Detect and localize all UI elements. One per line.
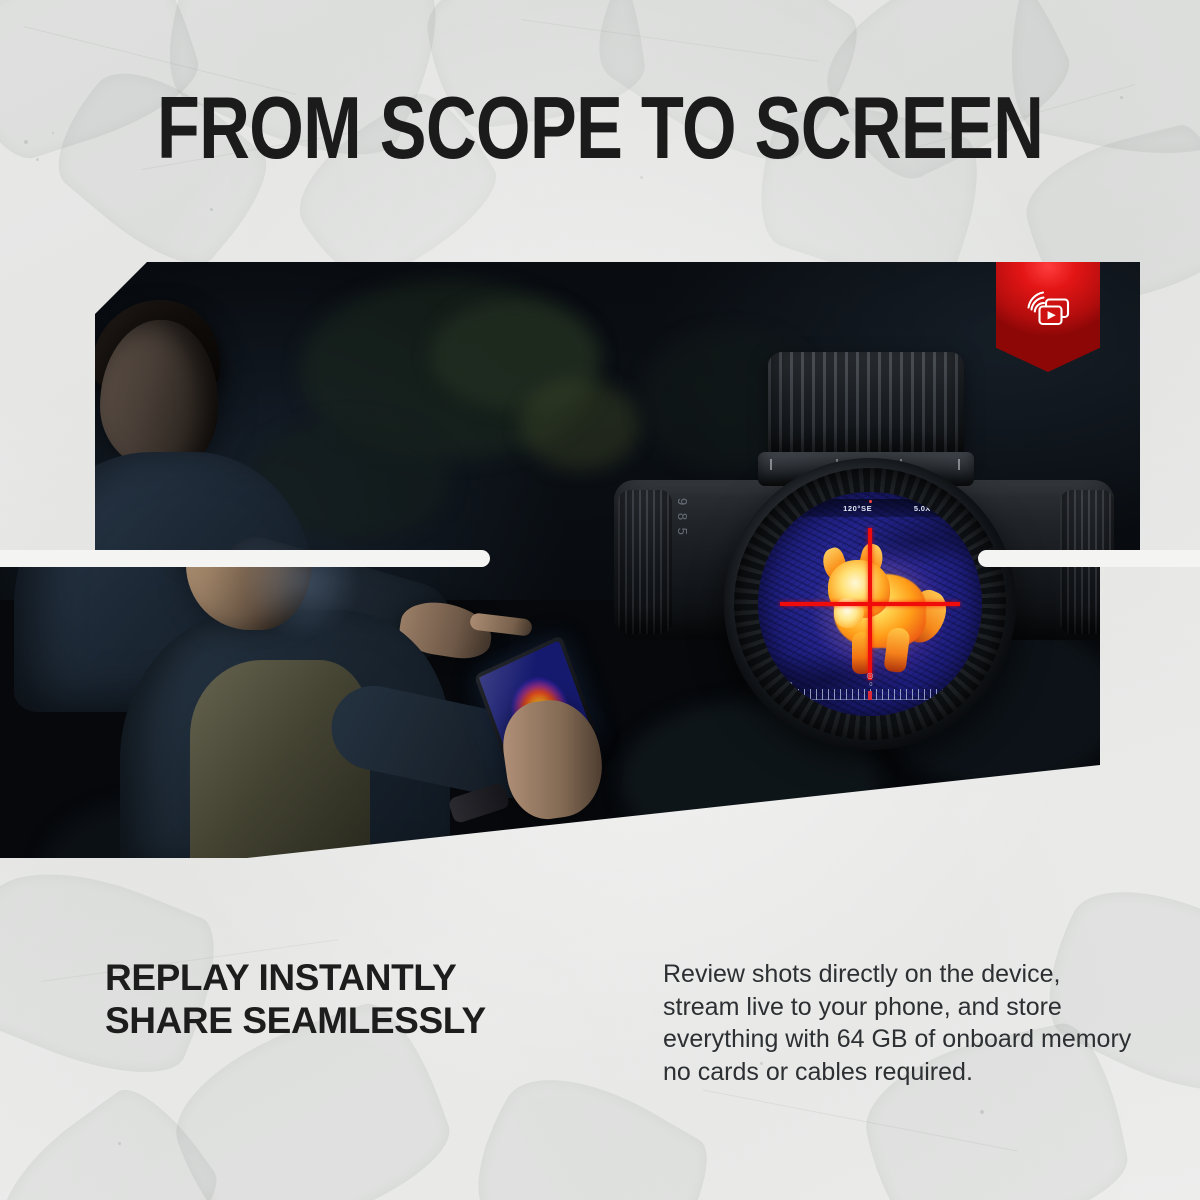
scope-engraved-label: 9 8 5 xyxy=(675,498,690,537)
hero-photo-lower-panel: ◎ -10 0 10 xyxy=(0,560,1100,858)
compass-tick-left-lower: -10 xyxy=(784,682,792,688)
wifi-icon xyxy=(936,504,947,512)
footer-body-copy: Review shots directly on the device, str… xyxy=(663,958,1133,1088)
scope-hud-top-bar: 120°SE 5.0X xyxy=(771,499,968,517)
poster-canvas: FROM SCOPE TO SCREEN xyxy=(0,0,1200,1200)
accent-bar-left xyxy=(0,550,490,567)
hud-zoom-readout: 5.0X xyxy=(914,504,931,513)
binocular-mode-icon[interactable] xyxy=(777,504,786,512)
wireless-stream-play-icon xyxy=(1022,286,1074,334)
battery-icon xyxy=(952,504,963,513)
scope-thermal-display[interactable]: 120°SE 5.0X xyxy=(758,492,982,560)
palette-mode-icon[interactable] xyxy=(792,504,801,513)
scope-display-lower: ◎ -10 0 10 xyxy=(758,560,982,716)
thermal-scope-lower: ◎ -10 0 10 xyxy=(604,560,1100,760)
night-scene-upper: 9 8 5 xyxy=(95,262,1140,560)
scope-hud-bottom-lower: ◎ -10 0 10 xyxy=(780,670,959,700)
hud-heading-readout: 120°SE xyxy=(801,504,913,513)
scope-grip-right-lower xyxy=(1060,560,1100,634)
scope-bell-lower: ◎ -10 0 10 xyxy=(724,560,1016,750)
scope-elevation-turret[interactable] xyxy=(768,352,964,460)
boy-jacket xyxy=(190,660,370,858)
hero-photo-upper-panel: 9 8 5 xyxy=(95,262,1140,560)
compass-tick-right-lower: 10 xyxy=(949,682,955,688)
footer-kicker: REPLAY INSTANTLY SHARE SEAMLESSLY xyxy=(105,956,486,1043)
boy-hand-holding-phone xyxy=(497,694,608,824)
scope-grip-left-lower xyxy=(618,560,672,634)
recording-indicator-dot xyxy=(869,500,872,503)
compass-tick-mid-lower: 0 xyxy=(869,682,872,688)
page-title: FROM SCOPE TO SCREEN xyxy=(120,86,1080,170)
accent-bar-right xyxy=(978,550,1200,567)
scope-grip-left xyxy=(618,490,672,560)
